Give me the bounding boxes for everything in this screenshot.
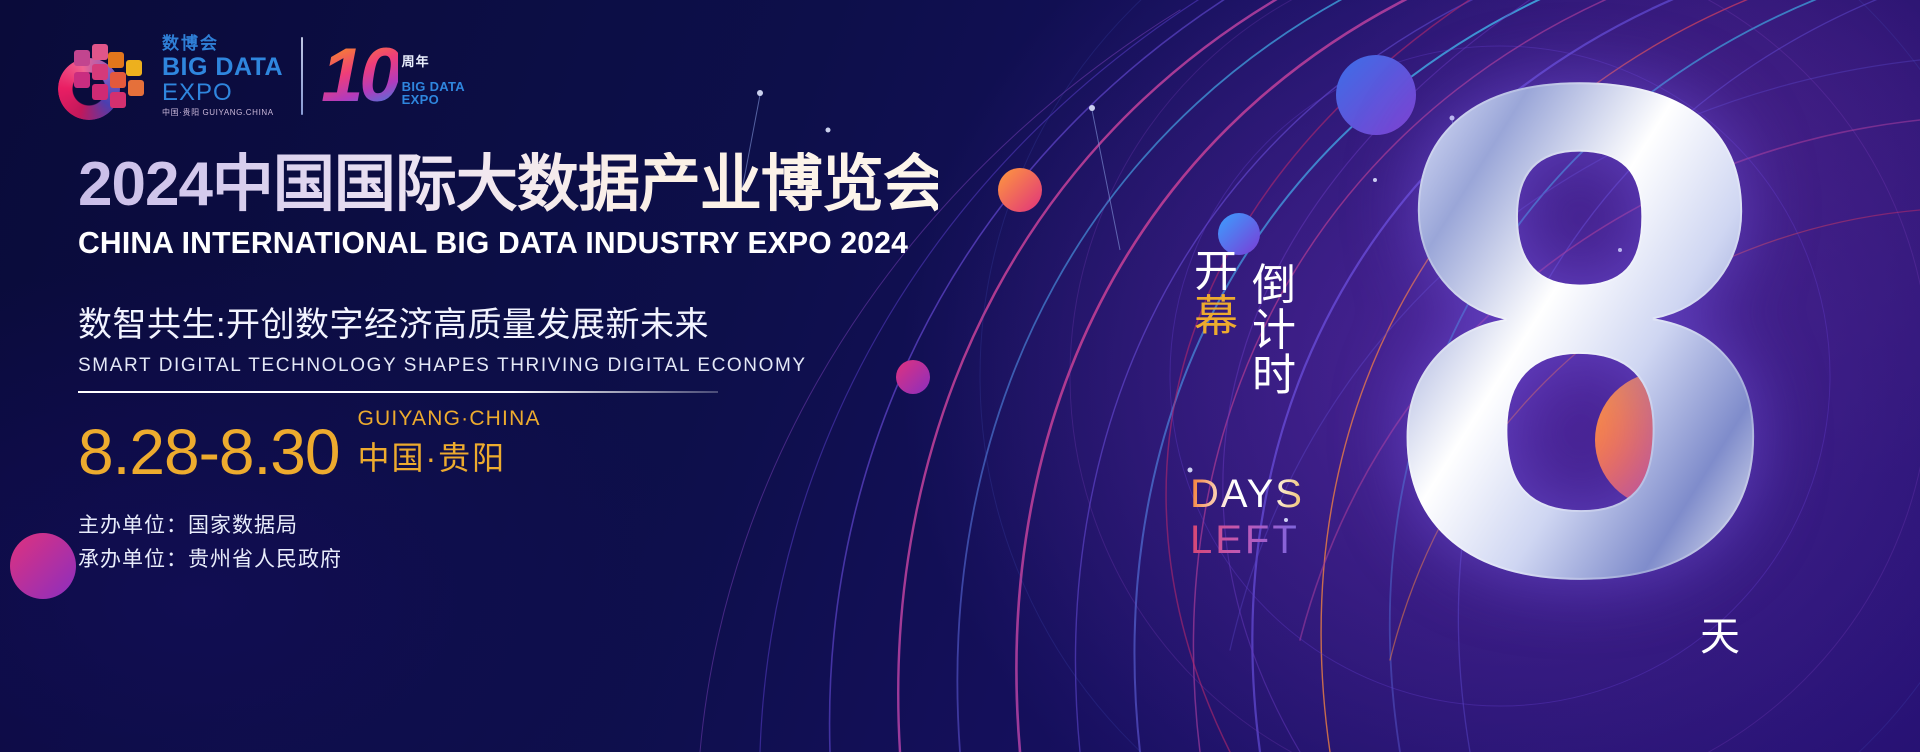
logo-divider — [301, 37, 303, 115]
countdown-char-ji: 计 — [1252, 309, 1296, 354]
event-location-cn: 中国·贵阳 — [357, 433, 540, 479]
logo-bar: 数博会 BIG DATA EXPO 中国·贵阳 GUIYANG.CHINA 10… — [52, 28, 465, 124]
anniversary-expo-text: EXPO — [402, 93, 465, 107]
countdown-char-shi: 时 — [1252, 354, 1296, 399]
event-location-en: GUIYANG·CHINA — [357, 407, 540, 431]
headline-block: 2024中国国际大数据产业博览会 CHINA INTERNATIONAL BIG… — [78, 152, 938, 576]
logo-location-text: 中国·贵阳 GUIYANG.CHINA — [162, 109, 283, 117]
countdown-unit-cn: 天 — [1700, 604, 1740, 662]
countdown-number: 8 — [1300, 30, 1860, 650]
anniversary-number: 10 — [321, 45, 398, 107]
logo-bigdata-text: BIG DATA — [162, 55, 283, 80]
countdown-poster: 数博会 BIG DATA EXPO 中国·贵阳 GUIYANG.CHINA 10… — [0, 0, 1920, 752]
page-title-cn: 2024中国国际大数据产业博览会 — [78, 152, 938, 217]
organizer-operator: 承办单位：贵州省人民政府 — [78, 543, 938, 577]
countdown-char-mu: 幕 — [1194, 295, 1238, 340]
logo-wordmark: 数博会 BIG DATA EXPO 中国·贵阳 GUIYANG.CHINA — [162, 35, 283, 117]
event-dates: 8.28-8.30 — [78, 422, 339, 483]
tagline-cn: 数智共生:开创数字经济高质量发展新未来 — [78, 297, 938, 346]
logo-expo-text: EXPO — [162, 81, 283, 105]
countdown-char-kai: 开 — [1194, 250, 1238, 295]
anniversary-bigdata-text: BIG DATA — [402, 80, 465, 94]
horizontal-divider — [78, 391, 718, 393]
organizer-list: 主办单位：国家数据局 承办单位：贵州省人民政府 — [78, 509, 938, 576]
tagline-en: SMART DIGITAL TECHNOLOGY SHAPES THRIVING… — [78, 355, 938, 377]
countdown-cn-column-left: 开 幕 — [1194, 250, 1238, 340]
logo-chinese-name: 数博会 — [162, 35, 283, 52]
anniversary-label: 周年 — [402, 51, 465, 70]
page-title-en: CHINA INTERNATIONAL BIG DATA INDUSTRY EX… — [78, 225, 912, 261]
organizer-host: 主办单位：国家数据局 — [78, 509, 938, 543]
big-data-expo-logo-mark — [52, 28, 144, 124]
event-dateline: 8.28-8.30 GUIYANG·CHINA 中国·贵阳 — [78, 407, 938, 483]
countdown-char-dao: 倒 — [1252, 264, 1296, 309]
countdown-cn-column-right: 倒 计 时 — [1252, 264, 1296, 399]
anniversary-logo: 10 周年 BIG DATA EXPO — [321, 45, 465, 107]
